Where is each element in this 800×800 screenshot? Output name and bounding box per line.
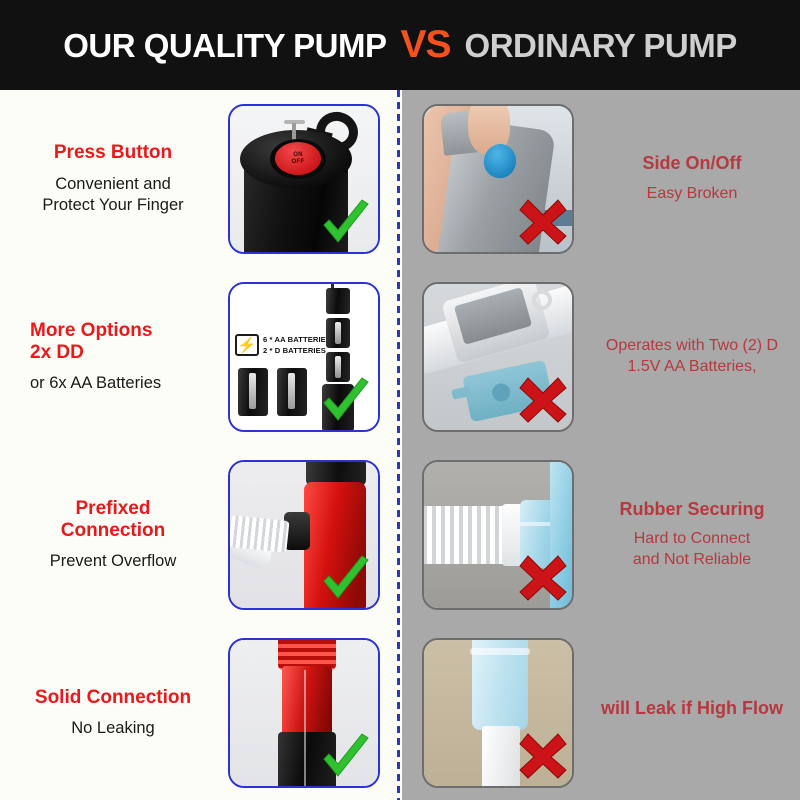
tube-seam-highlight (304, 670, 306, 786)
left-heading-line2: 2x DD (30, 342, 84, 364)
cross-mark-icon (518, 198, 568, 246)
power-button-off-label: OFF (292, 159, 305, 165)
left-text-block: More Options 2x DD or 6x AA Batteries (8, 268, 218, 446)
ribbed-hose (230, 515, 290, 553)
power-button[interactable]: ON OFF (275, 142, 321, 175)
left-subtext-line1: or 6x AA Batteries (30, 373, 161, 394)
cross-mark-icon (518, 554, 568, 602)
right-text-block: will Leak if High Flow (590, 624, 794, 800)
header-banner: OUR QUALITY PUMP VS ORDINARY PUMP (0, 0, 800, 90)
right-subtext-line1: Hard to Connect (634, 529, 751, 550)
right-image-card (422, 282, 574, 432)
left-heading: Solid Connection (35, 687, 191, 709)
left-subtext-line1: No Leaking (71, 718, 154, 739)
left-heading-line2: Connection (61, 520, 166, 542)
right-text-block: Side On/Off Easy Broken (590, 90, 794, 268)
ribbed-white-hose (424, 506, 514, 564)
right-text-block: Rubber Securing Hard to Connect and Not … (590, 446, 794, 624)
right-heading: Rubber Securing (619, 499, 764, 520)
comparison-row: Solid Connection No Leaking (0, 624, 800, 800)
left-heading-line1: More Options (30, 320, 152, 342)
check-mark-icon (318, 732, 374, 784)
left-image-card (228, 460, 380, 610)
check-mark-icon (318, 554, 374, 606)
comparison-body: Press Button Convenient and Protect Your… (0, 90, 800, 800)
left-text-block: Prefixed Connection Prevent Overflow (8, 446, 218, 624)
right-image-card (422, 460, 574, 610)
right-text-block: Operates with Two (2) D 1.5V AA Batterie… (590, 268, 794, 446)
comparison-infographic: OUR QUALITY PUMP VS ORDINARY PUMP Press … (0, 0, 800, 800)
white-tube (482, 726, 520, 786)
cross-mark-icon (518, 376, 568, 424)
hanging-ring (532, 290, 552, 310)
pump-shaft-segment (326, 318, 350, 348)
title-vs: VS (401, 23, 451, 67)
title-ordinary-pump: ORDINARY PUMP (465, 27, 737, 65)
left-heading: Press Button (54, 142, 172, 164)
check-mark-icon (318, 198, 374, 250)
battery-cell (277, 368, 307, 416)
right-heading: Side On/Off (643, 153, 742, 174)
left-subtext-line1: Prevent Overflow (50, 551, 177, 572)
pump-shaft-segment (326, 288, 350, 314)
comparison-row: More Options 2x DD or 6x AA Batteries ⚡ … (0, 268, 800, 446)
left-subtext-line2: Protect Your Finger (42, 195, 183, 216)
comparison-row: Press Button Convenient and Protect Your… (0, 90, 800, 268)
blue-tube-ring (470, 648, 530, 655)
right-image-card (422, 104, 574, 254)
battery-cell (238, 368, 268, 416)
right-subtext-line2: 1.5V AA Batteries, (628, 357, 757, 378)
left-heading-line1: Prefixed (76, 498, 151, 520)
left-subtext-line1: Convenient and (55, 174, 171, 195)
red-tube (282, 666, 332, 738)
left-image-card: ON OFF (228, 104, 380, 254)
comparison-row: Prefixed Connection Prevent Overflow (0, 446, 800, 624)
left-image-card (228, 638, 380, 788)
cross-mark-icon (518, 732, 568, 780)
right-subtext-line1: Easy Broken (647, 184, 738, 205)
check-mark-icon (318, 376, 374, 428)
header-title-group: OUR QUALITY PUMP VS ORDINARY PUMP (63, 23, 736, 67)
left-image-card: ⚡ 6 * AA BATTERIES 2 * D BATTERIES (228, 282, 380, 432)
left-text-block: Solid Connection No Leaking (8, 624, 218, 800)
title-our-quality-pump: OUR QUALITY PUMP (63, 27, 386, 65)
right-heading: will Leak if High Flow (601, 698, 783, 719)
lightning-bolt-icon: ⚡ (235, 334, 259, 356)
right-subtext-line2: and Not Reliable (633, 550, 751, 571)
left-text-block: Press Button Convenient and Protect Your… (8, 90, 218, 268)
right-image-card (422, 638, 574, 788)
right-subtext-line1: Operates with Two (2) D (606, 336, 778, 357)
